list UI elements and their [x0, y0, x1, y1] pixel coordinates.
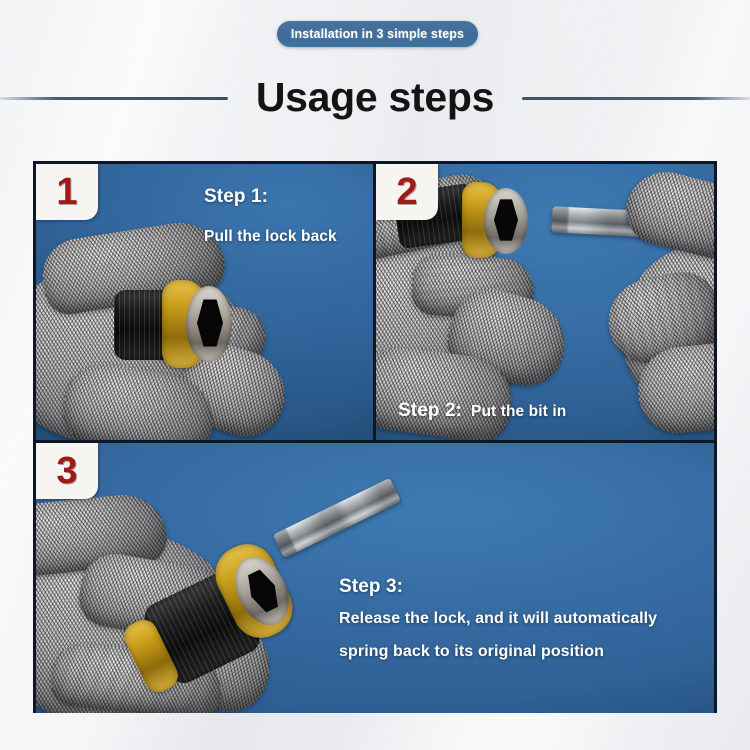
step-3-number-badge: 3 — [36, 443, 98, 499]
step-2-caption: Put the bit in — [471, 403, 566, 421]
page-title-row: Usage steps — [0, 66, 750, 128]
step-1-caption: Pull the lock back — [204, 228, 337, 246]
step-1-heading: Step 1: — [204, 186, 268, 208]
step-1-number: 1 — [56, 173, 77, 211]
installation-pill-badge: Installation in 3 simple steps — [277, 21, 478, 47]
page-title-text: Usage steps — [238, 74, 512, 120]
step-3-heading: Step 3: — [339, 576, 403, 598]
page-title: Usage steps — [0, 66, 750, 128]
installation-pill-label: Installation in 3 simple steps — [291, 27, 464, 41]
step-2-heading: Step 2: — [398, 400, 462, 422]
step-1-number-badge: 1 — [36, 164, 98, 220]
step-panel-2: 2 Step 2: Put the bit in — [376, 164, 714, 440]
step-2-caption-row: Step 2: Put the bit in — [398, 400, 566, 422]
step-3-caption-line-1: Release the lock, and it will automatica… — [339, 610, 657, 628]
step-3-caption-line-2: spring back to its original position — [339, 643, 604, 661]
step-3-number: 3 — [56, 452, 77, 490]
step-panel-3: 3 Step 3: Release the lock, and it will … — [36, 443, 714, 713]
step-2-number-badge: 2 — [376, 164, 438, 220]
step-panel-1: 1 Step 1: Pull the lock back — [36, 164, 373, 440]
page-background: Installation in 3 simple steps Usage ste… — [0, 0, 750, 750]
usage-steps-board: 1 Step 1: Pull the lock back — [33, 161, 717, 713]
step-2-number: 2 — [396, 173, 417, 211]
